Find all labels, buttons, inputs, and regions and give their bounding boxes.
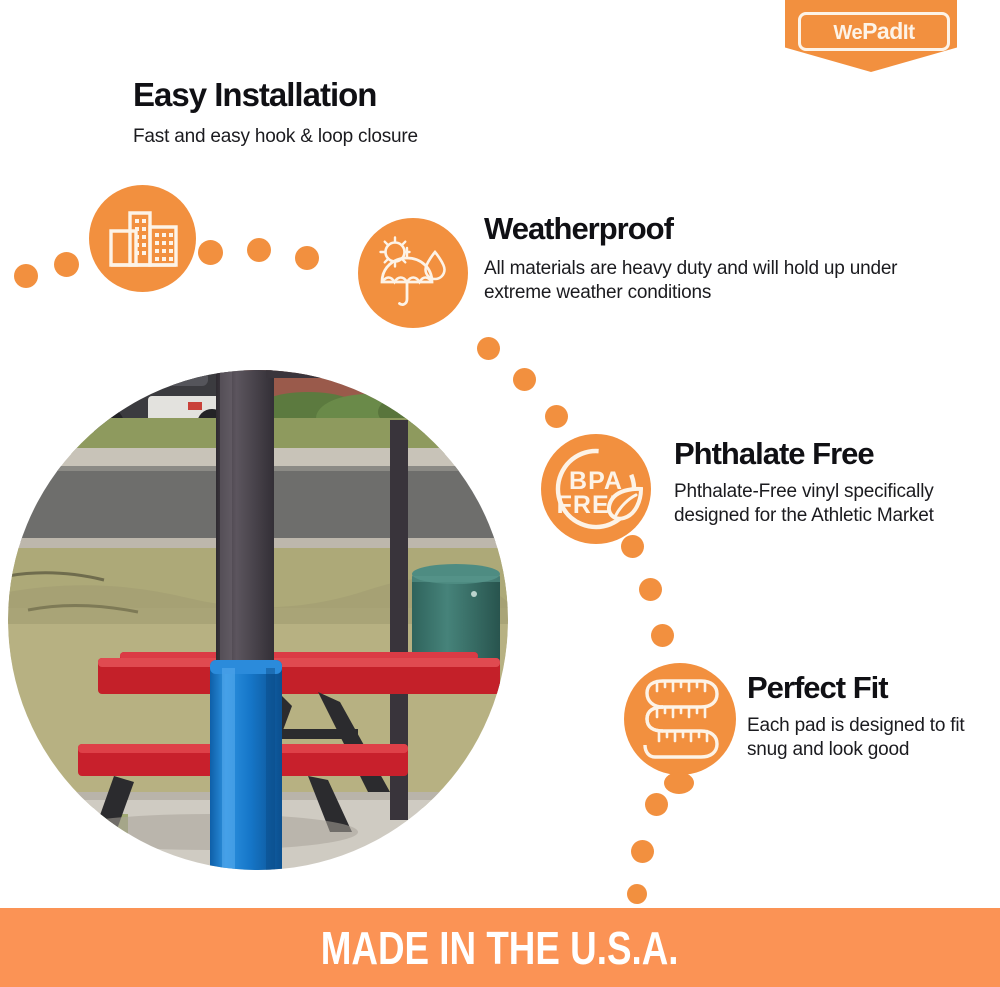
logo-inner-frame: WePadIt — [798, 12, 950, 51]
icon-perfect-fit — [624, 663, 736, 775]
logo-text-we: We — [833, 22, 862, 44]
brand-logo: WePadIt — [785, 0, 957, 72]
bpa-free-leaf-icon: BPA FREE — [544, 437, 648, 541]
made-in-usa-banner: MADE IN THE U.S.A. — [0, 908, 1000, 987]
trail-dot — [631, 840, 654, 863]
feature-body: Phthalate-Free vinyl specifically design… — [674, 480, 974, 529]
trail-dot — [295, 246, 319, 270]
feature-title: Perfect Fit — [747, 672, 987, 705]
trail-dot — [645, 793, 668, 816]
icon-weatherproof — [358, 218, 468, 328]
trail-dot — [247, 238, 271, 262]
feature-title: Phthalate Free — [674, 438, 974, 471]
feature-weatherproof: Weatherproof All materials are heavy dut… — [484, 213, 904, 306]
logo-text-it: It — [903, 21, 915, 44]
measuring-tape-icon — [633, 673, 727, 765]
feature-perfect-fit: Perfect Fit Each pad is designed to fit … — [747, 672, 987, 763]
trail-dot — [54, 252, 79, 277]
logo-text-pad: Pad — [862, 18, 903, 44]
feature-easy-installation: Easy Installation Fast and easy hook & l… — [133, 78, 563, 149]
feature-body: Each pad is designed to fit snug and loo… — [747, 714, 987, 763]
trail-dot — [651, 624, 674, 647]
trail-dot — [664, 772, 694, 794]
logo-text: WePadIt — [833, 20, 914, 43]
product-photo-illustration — [8, 362, 508, 878]
made-in-usa-text: MADE IN THE U.S.A. — [321, 921, 679, 975]
trail-dot — [477, 337, 500, 360]
trail-dot — [639, 578, 662, 601]
infographic-page: WePadIt — [0, 0, 1000, 987]
icon-easy-installation — [89, 185, 196, 292]
umbrella-sun-rain-icon — [373, 236, 453, 310]
building-icon — [106, 207, 180, 271]
feature-body: All materials are heavy duty and will ho… — [484, 257, 904, 306]
trail-dot — [545, 405, 568, 428]
feature-title: Weatherproof — [484, 213, 904, 246]
feature-phthalate-free: Phthalate Free Phthalate-Free vinyl spec… — [674, 438, 974, 529]
trail-dot — [198, 240, 223, 265]
feature-body: Fast and easy hook & loop closure — [133, 125, 563, 150]
trail-dot — [14, 264, 38, 288]
trail-dot — [627, 884, 647, 904]
trail-dot — [513, 368, 536, 391]
icon-phthalate-free: BPA FREE — [541, 434, 651, 544]
product-photo — [8, 362, 508, 878]
feature-title: Easy Installation — [133, 78, 563, 113]
